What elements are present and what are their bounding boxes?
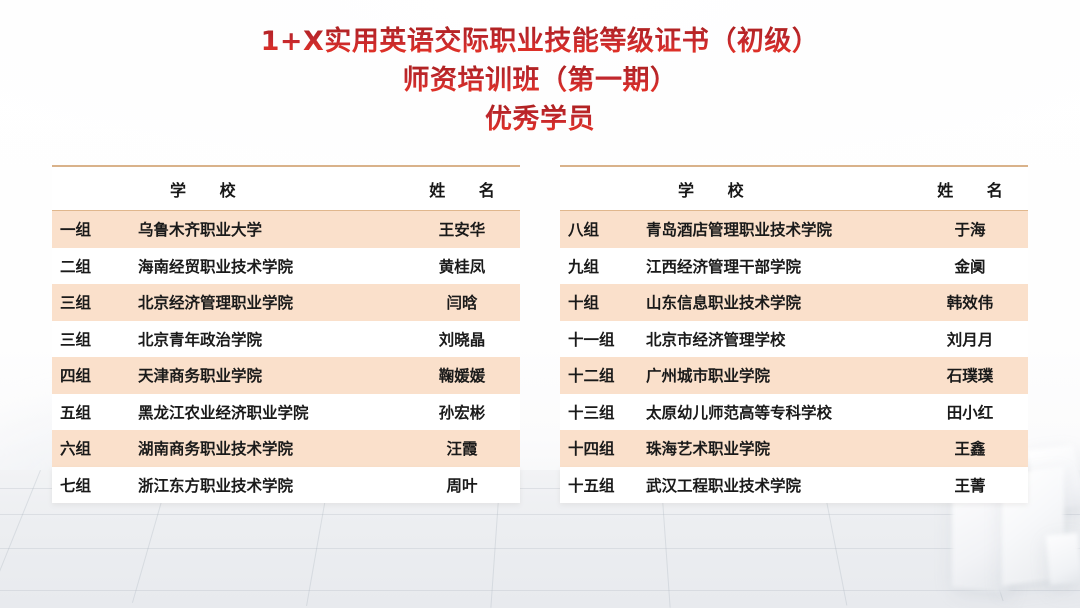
- cell-school: 珠海艺术职业学院: [646, 437, 912, 459]
- cell-group: 三组: [52, 328, 138, 350]
- table-row: 五组黑龙江农业经济职业学院孙宏彬: [52, 394, 520, 431]
- table-row: 三组北京经济管理职业学院闫晗: [52, 284, 520, 321]
- cell-group: 九组: [560, 255, 646, 277]
- table-row: 十五组武汉工程职业技术学院王菁: [560, 467, 1028, 504]
- title-line-3: 优秀学员: [0, 100, 1080, 139]
- cell-school: 广州城市职业学院: [646, 364, 912, 386]
- cell-school: 湖南商务职业技术学院: [138, 437, 404, 459]
- cell-name: 刘月月: [912, 328, 1028, 350]
- cell-name: 黄桂凤: [404, 255, 520, 277]
- cell-name: 王安华: [404, 218, 520, 240]
- cell-group: 十一组: [560, 328, 646, 350]
- table-header-row: 学 校 姓 名: [560, 167, 1028, 211]
- column-header-school: 学 校: [138, 177, 404, 201]
- cell-group: 四组: [52, 364, 138, 386]
- cell-name: 金阒: [912, 255, 1028, 277]
- cell-school: 山东信息职业技术学院: [646, 291, 912, 313]
- column-header-name: 姓 名: [404, 177, 520, 201]
- cell-school: 北京经济管理职业学院: [138, 291, 404, 313]
- slide-root: 1+X实用英语交际职业技能等级证书（初级） 师资培训班（第一期） 优秀学员 学 …: [0, 0, 1080, 608]
- table-row: 六组湖南商务职业技术学院汪霞: [52, 430, 520, 467]
- page-title: 1+X实用英语交际职业技能等级证书（初级） 师资培训班（第一期） 优秀学员: [0, 22, 1080, 139]
- table-row: 二组海南经贸职业技术学院黄桂凤: [52, 248, 520, 285]
- table-row: 十二组广州城市职业学院石璞璞: [560, 357, 1028, 394]
- cell-name: 于海: [912, 218, 1028, 240]
- cell-group: 六组: [52, 437, 138, 459]
- cell-school: 浙江东方职业技术学院: [138, 474, 404, 496]
- cell-name: 周叶: [404, 474, 520, 496]
- cell-name: 王鑫: [912, 437, 1028, 459]
- cell-name: 刘晓晶: [404, 328, 520, 350]
- cell-name: 石璞璞: [912, 364, 1028, 386]
- title-line-2: 师资培训班（第一期）: [0, 61, 1080, 100]
- cell-school: 黑龙江农业经济职业学院: [138, 401, 404, 423]
- cell-school: 江西经济管理干部学院: [646, 255, 912, 277]
- cell-school: 乌鲁木齐职业大学: [138, 218, 404, 240]
- column-header-school: 学 校: [646, 177, 912, 201]
- table-row: 十三组太原幼儿师范高等专科学校田小红: [560, 394, 1028, 431]
- table-row: 三组北京青年政治学院刘晓晶: [52, 321, 520, 358]
- table-row: 十一组北京市经济管理学校刘月月: [560, 321, 1028, 358]
- cell-group: 十五组: [560, 474, 646, 496]
- cell-group: 三组: [52, 291, 138, 313]
- cell-school: 武汉工程职业技术学院: [646, 474, 912, 496]
- decorative-cube: [1046, 533, 1080, 586]
- cell-group: 七组: [52, 474, 138, 496]
- cell-name: 孙宏彬: [404, 401, 520, 423]
- cell-group: 二组: [52, 255, 138, 277]
- left-roster-table: 学 校 姓 名 一组乌鲁木齐职业大学王安华二组海南经贸职业技术学院黄桂凤三组北京…: [52, 165, 520, 503]
- table-row: 一组乌鲁木齐职业大学王安华: [52, 211, 520, 248]
- cell-group: 十四组: [560, 437, 646, 459]
- cell-group: 八组: [560, 218, 646, 240]
- table-row: 十组山东信息职业技术学院韩效伟: [560, 284, 1028, 321]
- cell-group: 五组: [52, 401, 138, 423]
- table-row: 九组江西经济管理干部学院金阒: [560, 248, 1028, 285]
- cell-group: 十三组: [560, 401, 646, 423]
- cell-group: 一组: [52, 218, 138, 240]
- cell-school: 北京市经济管理学校: [646, 328, 912, 350]
- cell-name: 王菁: [912, 474, 1028, 496]
- cell-name: 田小红: [912, 401, 1028, 423]
- tables-container: 学 校 姓 名 一组乌鲁木齐职业大学王安华二组海南经贸职业技术学院黄桂凤三组北京…: [0, 165, 1080, 503]
- cell-name: 闫晗: [404, 291, 520, 313]
- cell-name: 鞠媛媛: [404, 364, 520, 386]
- title-line-1: 1+X实用英语交际职业技能等级证书（初级）: [0, 22, 1080, 61]
- cell-school: 北京青年政治学院: [138, 328, 404, 350]
- cell-school: 青岛酒店管理职业技术学院: [646, 218, 912, 240]
- table-row: 十四组珠海艺术职业学院王鑫: [560, 430, 1028, 467]
- cell-school: 海南经贸职业技术学院: [138, 255, 404, 277]
- table-row: 七组浙江东方职业技术学院周叶: [52, 467, 520, 504]
- cell-group: 十二组: [560, 364, 646, 386]
- table-row: 八组青岛酒店管理职业技术学院于海: [560, 211, 1028, 248]
- table-row: 四组天津商务职业学院鞠媛媛: [52, 357, 520, 394]
- column-header-name: 姓 名: [912, 177, 1028, 201]
- right-roster-table: 学 校 姓 名 八组青岛酒店管理职业技术学院于海九组江西经济管理干部学院金阒十组…: [560, 165, 1028, 503]
- cell-school: 太原幼儿师范高等专科学校: [646, 401, 912, 423]
- cell-name: 韩效伟: [912, 291, 1028, 313]
- cell-name: 汪霞: [404, 437, 520, 459]
- table-header-row: 学 校 姓 名: [52, 167, 520, 211]
- cell-group: 十组: [560, 291, 646, 313]
- cell-school: 天津商务职业学院: [138, 364, 404, 386]
